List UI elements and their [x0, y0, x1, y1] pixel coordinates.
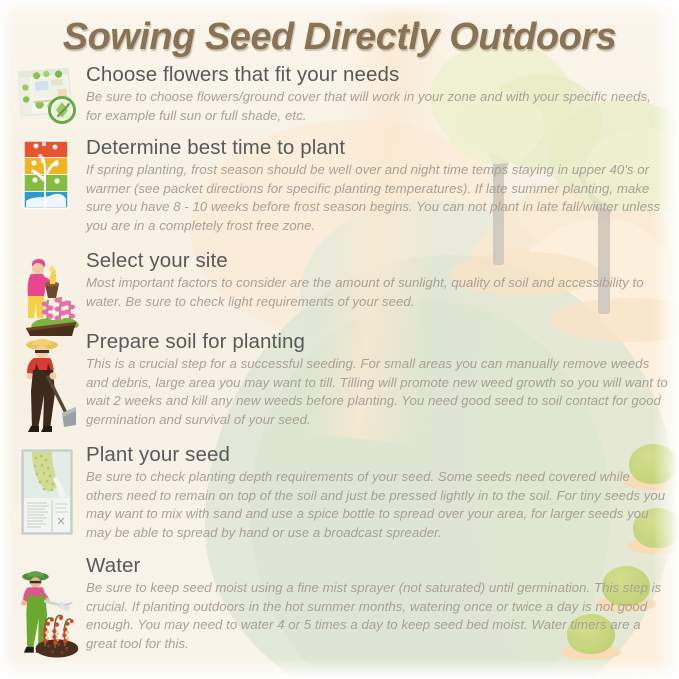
- step-prepare-soil: Prepare soil for planting This is a cruc…: [8, 331, 676, 429]
- gardener-with-shovel-icon: [14, 333, 82, 433]
- step-copy: Select your site Most important factors …: [86, 250, 676, 311]
- step-body: Be sure to keep seed moist using a fine …: [86, 579, 668, 653]
- step-copy: Choose flowers that fit your needs Be su…: [86, 64, 676, 125]
- step-heading: Prepare soil for planting: [86, 331, 668, 354]
- garden-plan-map-icon: [14, 66, 82, 128]
- step-body: Be sure to choose flowers/ground cover t…: [86, 88, 668, 125]
- step-copy: Prepare soil for planting This is a cruc…: [86, 331, 676, 429]
- seed-packet-icon: [14, 446, 82, 538]
- step-heading: Determine best time to plant: [86, 137, 668, 160]
- step-choose-flowers: Choose flowers that fit your needs Be su…: [8, 64, 676, 125]
- step-copy: Water Be sure to keep seed moist using a…: [86, 555, 676, 653]
- step-select-site: Select your site Most important factors …: [8, 250, 676, 311]
- infographic-poster: Sowing Seed Directly Outdoors: [0, 0, 679, 679]
- step-heading: Plant your seed: [86, 444, 668, 467]
- step-determine-time: Determine best time to plant If spring p…: [8, 137, 676, 235]
- gardener-watering-icon: [14, 557, 82, 669]
- step-body: If spring planting, frost season should …: [86, 161, 668, 235]
- step-copy: Determine best time to plant If spring p…: [86, 137, 676, 235]
- step-copy: Plant your seed Be sure to check plantin…: [86, 444, 676, 542]
- step-heading: Water: [86, 555, 668, 578]
- step-plant-seed: Plant your seed Be sure to check plantin…: [8, 444, 676, 542]
- step-body: This is a crucial step for a successful …: [86, 355, 668, 429]
- steps-list: Choose flowers that fit your needs Be su…: [0, 0, 679, 679]
- step-heading: Select your site: [86, 250, 668, 273]
- step-body: Most important factors to consider are t…: [86, 274, 668, 311]
- gardener-planting-flowers-icon: [14, 252, 82, 338]
- four-seasons-tree-icon: [14, 139, 82, 213]
- step-body: Be sure to check planting depth requirem…: [86, 468, 668, 542]
- step-heading: Choose flowers that fit your needs: [86, 64, 668, 87]
- step-water: Water Be sure to keep seed moist using a…: [8, 555, 676, 653]
